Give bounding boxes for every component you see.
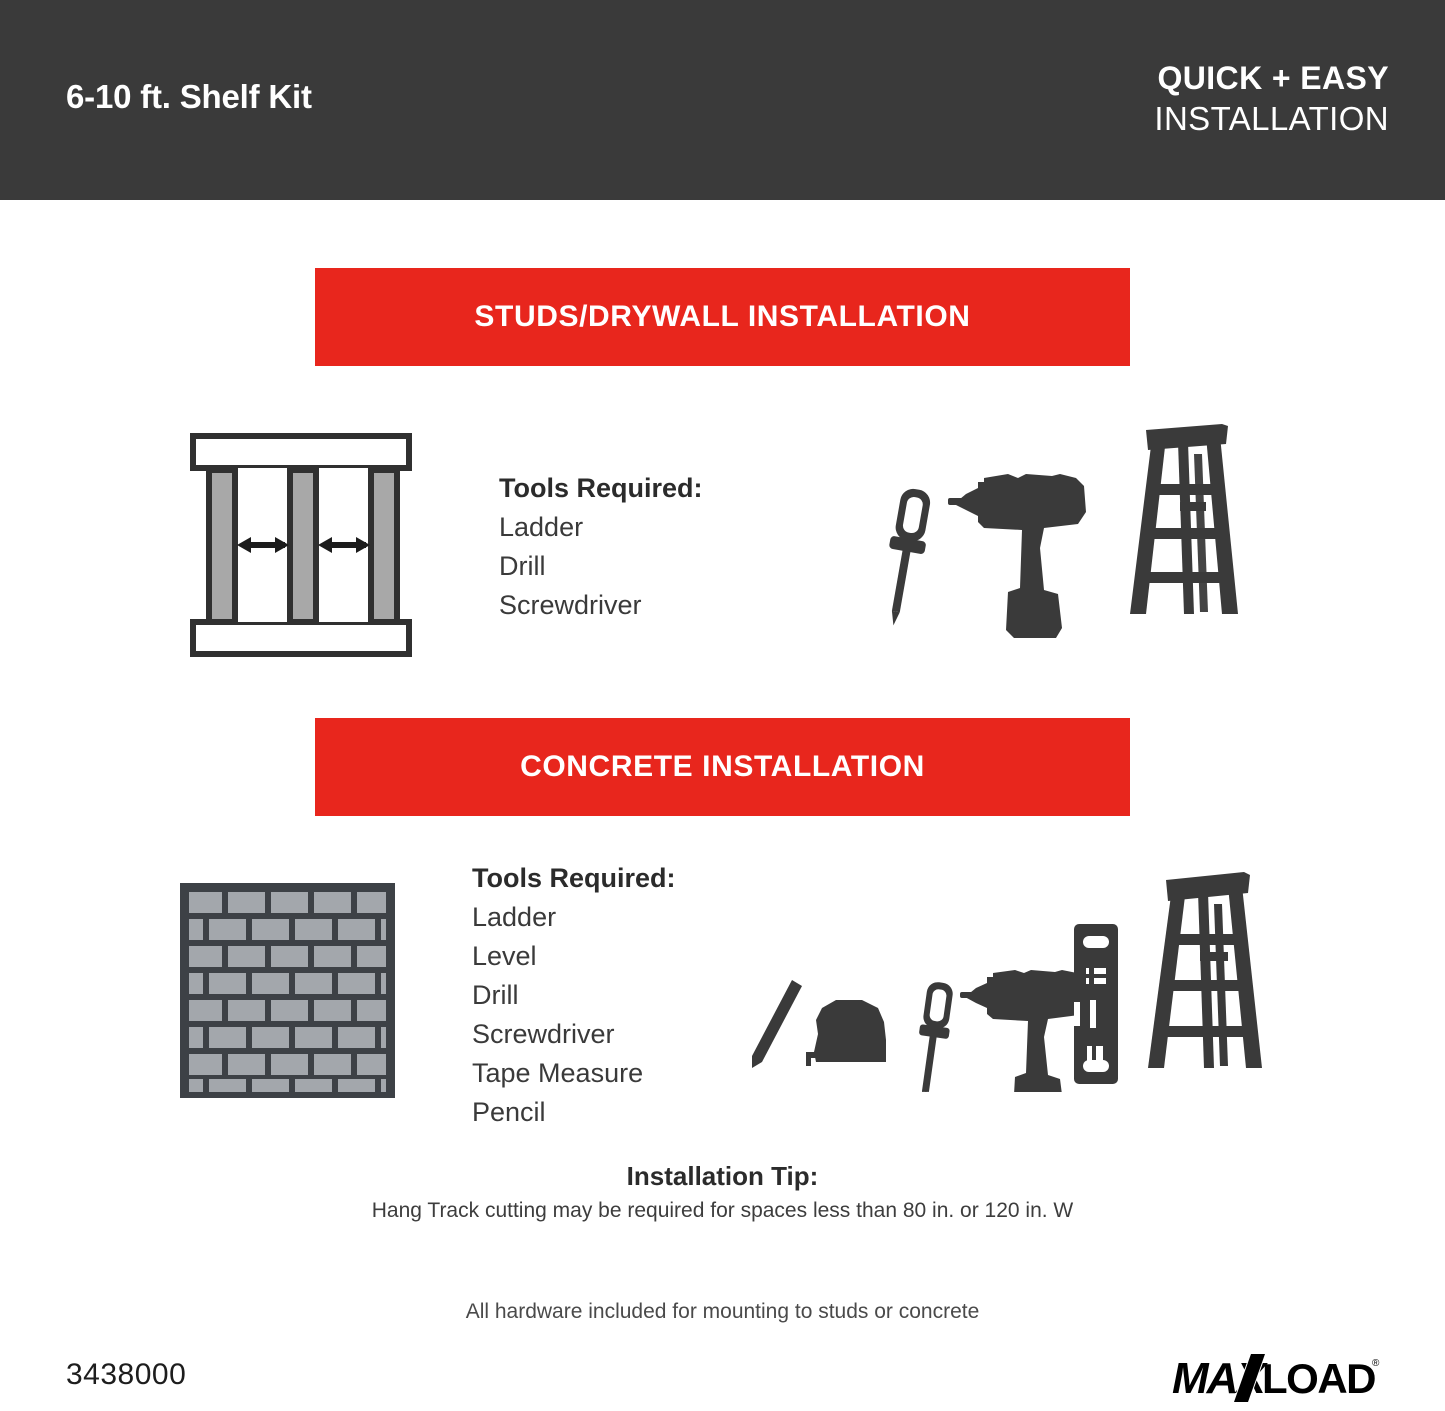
- page-title: 6-10 ft. Shelf Kit: [66, 78, 312, 116]
- banner-concrete-label: CONCRETE INSTALLATION: [520, 750, 925, 784]
- banner-studs-drywall-label: STUDS/DRYWALL INSTALLATION: [474, 300, 970, 334]
- header-tagline: QUICK + EASY INSTALLATION: [1154, 58, 1389, 140]
- tool-icons-studs: [860, 420, 1260, 655]
- section-concrete-body: Tools Required: Ladder Level Drill Screw…: [0, 860, 1445, 1130]
- level-icon: [1074, 924, 1118, 1084]
- tool-item: Screwdriver: [499, 586, 703, 625]
- banner-studs-drywall: STUDS/DRYWALL INSTALLATION: [315, 268, 1130, 366]
- drill-icon: [960, 970, 1086, 1092]
- installation-tip-title: Installation Tip:: [0, 1158, 1445, 1194]
- screwdriver-icon: [876, 486, 935, 628]
- stud-wall-illustration: [185, 432, 417, 663]
- tool-item: Tape Measure: [472, 1054, 676, 1093]
- tape-measure-icon: [806, 1000, 886, 1066]
- pencil-icon: [752, 980, 802, 1068]
- drill-icon: [948, 474, 1086, 638]
- tools-required-studs: Tools Required: Ladder Drill Screwdriver: [499, 468, 703, 625]
- installation-tip: Installation Tip: Hang Track cutting may…: [0, 1158, 1445, 1228]
- ladder-icon: [1130, 424, 1238, 614]
- tool-item: Drill: [472, 976, 676, 1015]
- maxload-logo: MAX LOAD ®: [1172, 1352, 1387, 1404]
- tool-item: Ladder: [472, 898, 676, 937]
- screwdriver-icon: [909, 980, 956, 1092]
- banner-concrete: CONCRETE INSTALLATION: [315, 718, 1130, 816]
- page-header: 6-10 ft. Shelf Kit QUICK + EASY INSTALLA…: [0, 0, 1445, 200]
- tool-icons-concrete: [748, 872, 1268, 1097]
- section-studs-drywall-body: Tools Required: Ladder Drill Screwdriver: [0, 420, 1445, 670]
- header-kicker: QUICK + EASY: [1154, 58, 1389, 98]
- brick-wall-illustration: [180, 883, 395, 1103]
- tool-item: Level: [472, 937, 676, 976]
- tool-item: Screwdriver: [472, 1015, 676, 1054]
- tool-item: Drill: [499, 547, 703, 586]
- tools-required-title: Tools Required:: [499, 468, 703, 508]
- hardware-included-note: All hardware included for mounting to st…: [0, 1300, 1445, 1324]
- installation-tip-text: Hang Track cutting may be required for s…: [0, 1194, 1445, 1228]
- logo-registered-mark: ®: [1372, 1358, 1380, 1369]
- header-subtitle: INSTALLATION: [1154, 98, 1389, 140]
- tool-item: Ladder: [499, 508, 703, 547]
- part-number: 3438000: [66, 1358, 186, 1392]
- tools-required-title: Tools Required:: [472, 858, 676, 898]
- tool-item: Pencil: [472, 1093, 676, 1132]
- ladder-icon: [1148, 872, 1262, 1068]
- logo-load-text: LOAD: [1262, 1355, 1375, 1402]
- tools-required-concrete: Tools Required: Ladder Level Drill Screw…: [472, 858, 676, 1132]
